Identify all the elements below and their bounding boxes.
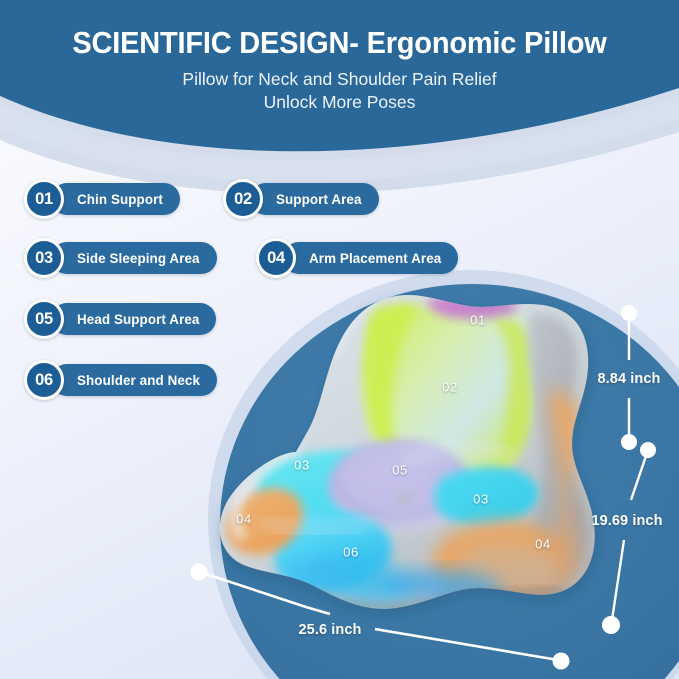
legend-badge-05: 05 — [24, 299, 64, 339]
legend-label-06: Shoulder and Neck — [51, 364, 217, 396]
infographic-canvas: SCIENTIFIC DESIGN- Ergonomic Pillow Pill… — [0, 0, 679, 679]
legend-badge-02: 02 — [223, 179, 263, 219]
legend-list: 01 Chin Support 02 Support Area 03 Side … — [0, 0, 679, 679]
legend-label-02: Support Area — [250, 183, 379, 215]
legend-item-03[interactable]: 03 Side Sleeping Area — [24, 238, 217, 278]
legend-label-01: Chin Support — [51, 183, 180, 215]
legend-item-02[interactable]: 02 Support Area — [223, 179, 379, 219]
legend-item-04[interactable]: 04 Arm Placement Area — [256, 238, 458, 278]
dimension-label-width: 25.6 inch — [299, 622, 362, 638]
legend-item-06[interactable]: 06 Shoulder and Neck — [24, 360, 217, 400]
legend-label-03: Side Sleeping Area — [51, 242, 217, 274]
legend-item-05[interactable]: 05 Head Support Area — [24, 299, 216, 339]
dimension-label-depth: 19.69 inch — [591, 513, 662, 529]
legend-label-05: Head Support Area — [51, 303, 216, 335]
legend-badge-06: 06 — [24, 360, 64, 400]
legend-badge-04: 04 — [256, 238, 296, 278]
legend-badge-01: 01 — [24, 179, 64, 219]
dimension-label-height: 8.84 inch — [598, 371, 661, 387]
legend-item-01[interactable]: 01 Chin Support — [24, 179, 180, 219]
legend-label-04: Arm Placement Area — [283, 242, 458, 274]
legend-badge-03: 03 — [24, 238, 64, 278]
